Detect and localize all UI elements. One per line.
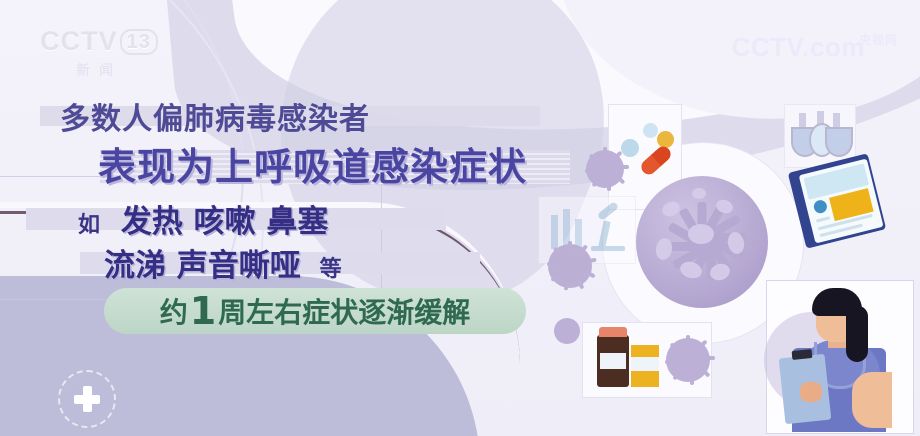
cctv-com-watermark: CCTV . com 央视网: [732, 34, 898, 60]
watermark-com: com: [810, 34, 865, 60]
symptom-block: 如 发热 咳嗽 鼻塞 流涕 声音嘶哑 等: [0, 196, 560, 284]
doctor-arm: [852, 372, 892, 428]
watermark-cctv: CCTV: [732, 34, 805, 60]
medical-cross-icon: [58, 370, 116, 428]
broadcast-graphic: CCTV13 新闻 CCTV . com 央视网 多数人偏肺病毒感染者 表现为上…: [0, 0, 920, 436]
callout-prefix: 约: [160, 291, 188, 331]
virus-particle-small: [554, 318, 580, 344]
cctv-wordmark: CCTV: [40, 26, 118, 56]
cctv13-subtitle: 新闻: [24, 60, 174, 80]
cctv13-logo: CCTV13 新闻: [24, 26, 174, 80]
headline-row-1: 多数人偏肺病毒感染者: [0, 92, 600, 138]
flask-body-3: [825, 127, 853, 157]
doctor-ponytail: [846, 306, 868, 362]
symptom-list-1: 发热 咳嗽 鼻塞: [121, 204, 329, 240]
virus-spike: [665, 360, 674, 364]
bottle-label: [600, 353, 626, 369]
recovery-callout-pill: 约 1 周左右症状逐渐缓解: [104, 288, 526, 334]
symptom-prefix: 如: [78, 213, 100, 238]
symptom-line-1: 如 发热 咳嗽 鼻塞: [78, 196, 638, 241]
cross-glyph: [74, 386, 100, 412]
headline-line-2: 表现为上呼吸道感染症状: [98, 136, 698, 191]
callout-text: 周左右症状逐渐缓解: [218, 291, 470, 331]
cctv13-mark: CCTV13: [24, 26, 174, 57]
headline-block: 多数人偏肺病毒感染者 表现为上呼吸道感染症状: [0, 92, 600, 190]
virus-spike: [706, 356, 715, 360]
virus-speck: [688, 224, 714, 244]
doctor-hand: [800, 382, 822, 402]
symptom-line-2: 流涕 声音嘶哑 等: [104, 240, 664, 285]
pill-box-label: [631, 357, 659, 371]
headline-line-1: 多数人偏肺病毒感染者: [60, 94, 660, 138]
watermark-cn: 央视网: [859, 34, 898, 46]
headline-row-2: 表现为上呼吸道感染症状: [0, 138, 600, 190]
watermark-dot: .: [802, 38, 809, 60]
bottle-cap: [599, 327, 627, 337]
symptom-suffix: 等: [320, 257, 342, 282]
callout-number: 1: [188, 289, 218, 333]
virus-spike: [686, 335, 690, 344]
symptom-row-1: 如 发热 咳嗽 鼻塞: [0, 196, 560, 240]
virus-speck: [660, 199, 682, 219]
virus-spike: [672, 371, 681, 380]
virus-spike: [690, 376, 694, 385]
virus-spike: [669, 342, 678, 351]
symptom-row-2: 流涕 声音嘶哑 等: [0, 240, 560, 284]
symptom-list-2: 流涕 声音嘶哑: [104, 248, 301, 284]
virus-particle-small: [666, 338, 710, 382]
channel-number: 13: [120, 29, 158, 55]
